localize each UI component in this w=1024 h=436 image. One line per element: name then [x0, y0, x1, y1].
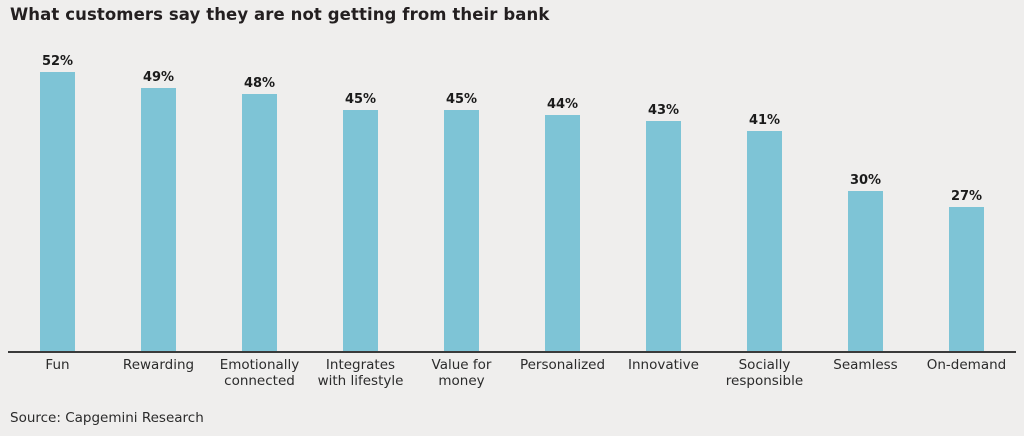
bar-group: 27% [916, 40, 1017, 352]
bar-rect[interactable] [141, 88, 176, 352]
bar-group: 45% [411, 40, 512, 352]
bar-value-label: 45% [345, 93, 376, 106]
bar-group: 43% [613, 40, 714, 352]
bar-rect[interactable] [343, 110, 378, 352]
bar-rect[interactable] [848, 191, 883, 352]
x-tick-label: Fun [7, 357, 108, 390]
x-tick-label: Personalized [512, 357, 613, 390]
bar-rect[interactable] [242, 94, 277, 352]
bar-group: 41% [714, 40, 815, 352]
bar-group: 49% [108, 40, 209, 352]
x-tick-label: Integrates with lifestyle [310, 357, 411, 390]
x-tick-label: Innovative [613, 357, 714, 390]
x-tick-label: Emotionally connected [209, 357, 310, 390]
x-axis-tick-labels: Fun Rewarding Emotionally connected Inte… [0, 357, 1024, 390]
bar-rect[interactable] [646, 121, 681, 352]
bar-rect[interactable] [40, 72, 75, 352]
bar-group: 48% [209, 40, 310, 352]
source-note: Source: Capgemini Research [10, 410, 204, 426]
bar-group: 45% [310, 40, 411, 352]
bar-group: 44% [512, 40, 613, 352]
x-tick-label: On-demand [916, 357, 1017, 390]
bar-group: 52% [7, 40, 108, 352]
bar-rect[interactable] [545, 115, 580, 352]
x-tick-label: Value for money [411, 357, 512, 390]
bar-value-label: 49% [143, 71, 174, 84]
bar-value-label: 43% [648, 104, 679, 117]
x-axis-line [8, 351, 1016, 353]
bar-value-label: 48% [244, 77, 275, 90]
x-tick-label: Socially responsible [714, 357, 815, 390]
bar-value-label: 52% [42, 55, 73, 68]
chart-figure: What customers say they are not getting … [0, 0, 1024, 436]
x-tick-label: Seamless [815, 357, 916, 390]
bar-value-label: 45% [446, 93, 477, 106]
bar-group: 30% [815, 40, 916, 352]
bar-value-label: 27% [951, 190, 982, 203]
bar-value-label: 44% [547, 98, 578, 111]
bar-value-label: 30% [850, 174, 881, 187]
page-title: What customers say they are not getting … [10, 5, 549, 24]
x-tick-label: Rewarding [108, 357, 209, 390]
bar-rect[interactable] [444, 110, 479, 352]
bar-series: 52% 49% 48% 45% 45% 44% 43% 41% [0, 40, 1024, 352]
bar-value-label: 41% [749, 114, 780, 127]
bar-rect[interactable] [949, 207, 984, 352]
bar-rect[interactable] [747, 131, 782, 352]
